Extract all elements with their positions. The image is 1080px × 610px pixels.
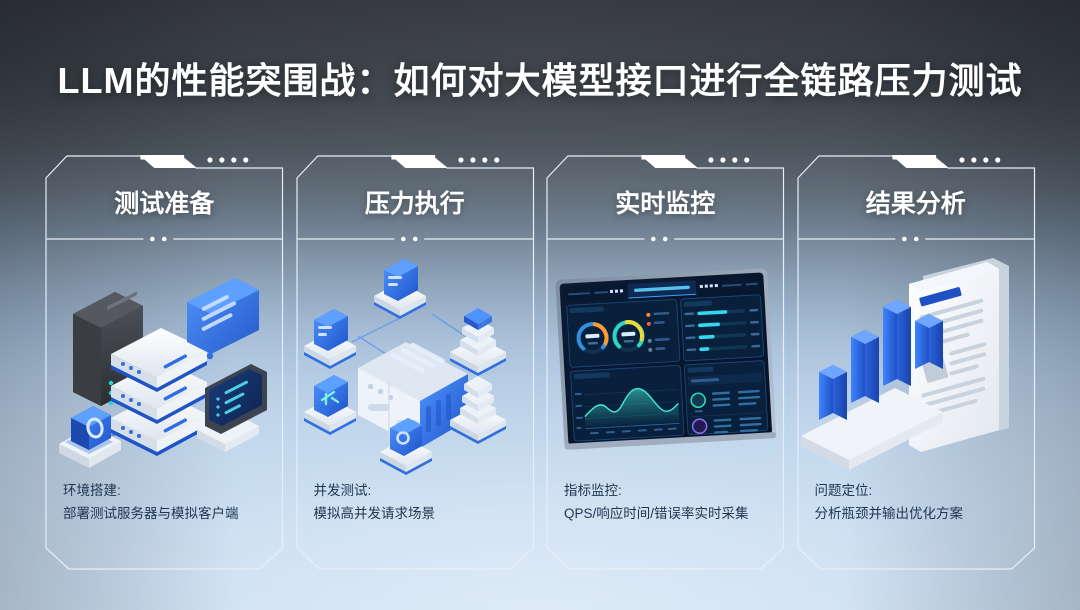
- card-heading: 实时监控: [546, 184, 785, 220]
- illustration-servers-and-clients: [45, 252, 285, 482]
- caption-label: 问题定位:: [815, 481, 1030, 501]
- card-row: 测试准备: [45, 152, 1035, 572]
- caption-label: 并发测试:: [314, 481, 529, 501]
- card-caption: 并发测试: 模拟高并发请求场景: [314, 481, 529, 524]
- illustration-distributed-load-nodes: [296, 252, 536, 482]
- caption-text: 分析瓶颈并输出优化方案: [815, 504, 1030, 524]
- caption-text: 部署测试服务器与模拟客户端: [63, 504, 278, 524]
- caption-text: 模拟高并发请求场景: [314, 504, 529, 524]
- caption-text: QPS/响应时间/错误率实时采集: [564, 504, 779, 524]
- illustration-monitoring-dashboard: [546, 252, 786, 482]
- caption-label: 环境搭建:: [63, 481, 278, 501]
- card-heading: 测试准备: [45, 184, 284, 220]
- caption-label: 指标监控:: [564, 481, 779, 501]
- card-heading: 结果分析: [797, 184, 1036, 220]
- card-realtime-monitoring[interactable]: 实时监控: [546, 152, 785, 572]
- card-result-analysis[interactable]: 结果分析: [797, 152, 1036, 572]
- card-caption: 指标监控: QPS/响应时间/错误率实时采集: [564, 481, 779, 524]
- card-load-execution[interactable]: 压力执行: [296, 152, 535, 572]
- card-heading: 压力执行: [296, 184, 535, 220]
- card-test-preparation[interactable]: 测试准备: [45, 152, 284, 572]
- card-caption: 问题定位: 分析瓶颈并输出优化方案: [815, 481, 1030, 524]
- illustration-bar-chart-and-report: [797, 252, 1037, 482]
- card-caption: 环境搭建: 部署测试服务器与模拟客户端: [63, 481, 278, 524]
- page-title: LLM的性能突围战：如何对大模型接口进行全链路压力测试: [0, 52, 1080, 104]
